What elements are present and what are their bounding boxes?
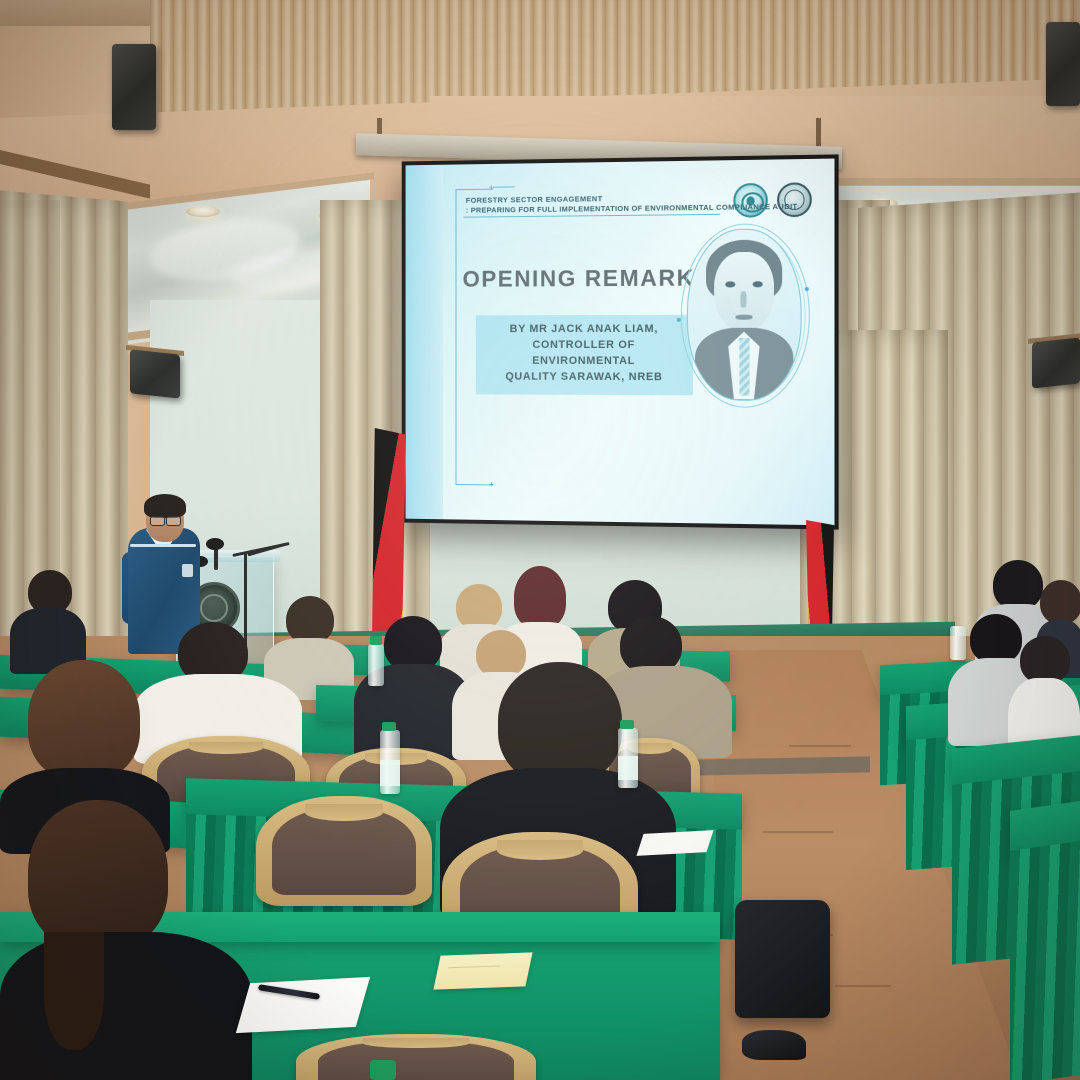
bottle-label	[380, 760, 400, 786]
orbit-dot-icon	[805, 287, 809, 291]
portrait-frame	[687, 229, 801, 401]
floor-threshold-strip	[690, 756, 870, 775]
wall-speaker-icon	[130, 349, 180, 398]
notepad	[433, 952, 532, 989]
projector-screen: + + FORESTRY SECTOR ENGAGEMENT : PREPARI…	[402, 154, 839, 529]
slide-title: OPENING REMARK	[460, 264, 699, 292]
shoe	[742, 1030, 806, 1060]
bottle-cap	[382, 722, 396, 731]
wall-speaker-icon	[1046, 22, 1080, 106]
slide-footer-line1	[466, 459, 657, 461]
audience-person-foreground	[0, 800, 252, 1080]
presentation-slide: + + FORESTRY SECTOR ENGAGEMENT : PREPARI…	[406, 159, 835, 526]
slide-tick-icon: +	[489, 184, 494, 193]
backpack	[735, 900, 830, 1018]
wall-speaker-icon	[1032, 337, 1080, 388]
bottle-label	[618, 756, 638, 780]
mirror-frame-right	[828, 178, 1080, 185]
curtain-right-inner	[828, 330, 948, 660]
bottle-cap	[620, 720, 634, 729]
banquet-chair	[256, 796, 432, 906]
speaker-badge	[182, 564, 193, 577]
audience-person	[10, 570, 86, 670]
slide-left-accent-bar	[406, 165, 443, 520]
speaker-glasses-left	[150, 516, 165, 526]
speaker-glasses-right	[166, 516, 181, 526]
conference-room-photo: + + FORESTRY SECTOR ENGAGEMENT : PREPARI…	[0, 0, 1080, 1080]
wall-speaker-icon	[112, 44, 156, 130]
screen-surface: + + FORESTRY SECTOR ENGAGEMENT : PREPARI…	[406, 159, 835, 526]
water-bottle	[950, 626, 966, 660]
slide-header: FORESTRY SECTOR ENGAGEMENT : PREPARING F…	[466, 193, 748, 215]
slide-footer-line2	[466, 461, 657, 463]
speaker-hair	[144, 494, 186, 518]
microphone-icon	[206, 538, 224, 550]
slide-corner-rule-vertical	[455, 189, 456, 484]
slide-tick-icon: +	[489, 481, 494, 490]
slide-subtitle-line2: CONTROLLER OF ENVIRONMENTAL	[482, 338, 687, 370]
banquet-chair-foreground	[296, 1034, 536, 1080]
water-bottle	[368, 644, 384, 686]
sarawak-flag-left	[372, 428, 406, 648]
slide-corner-rule-bottom	[455, 484, 493, 485]
forest-department-logo-icon	[777, 183, 812, 218]
table-drape	[1010, 841, 1080, 1080]
paper-sheet	[636, 830, 713, 856]
bottle-cap	[370, 1060, 396, 1080]
speaker-shirt-trim	[130, 544, 196, 547]
bottle-cap	[370, 636, 382, 645]
ponytail	[44, 932, 104, 1050]
downlight-icon	[186, 206, 220, 217]
slide-subtitle-box: BY MR JACK ANAK LIAM, CONTROLLER OF ENVI…	[476, 315, 693, 395]
slide-subtitle-line3: QUALITY SARAWAK, NREB	[482, 369, 687, 386]
speaker-portrait	[687, 229, 801, 401]
paper-sheet	[236, 977, 370, 1033]
slide-subtitle-line1: BY MR JACK ANAK LIAM,	[482, 322, 687, 338]
slide-tick-rule	[493, 186, 514, 187]
slide-corner-rule-top	[455, 189, 493, 190]
slide-footer	[466, 459, 657, 463]
